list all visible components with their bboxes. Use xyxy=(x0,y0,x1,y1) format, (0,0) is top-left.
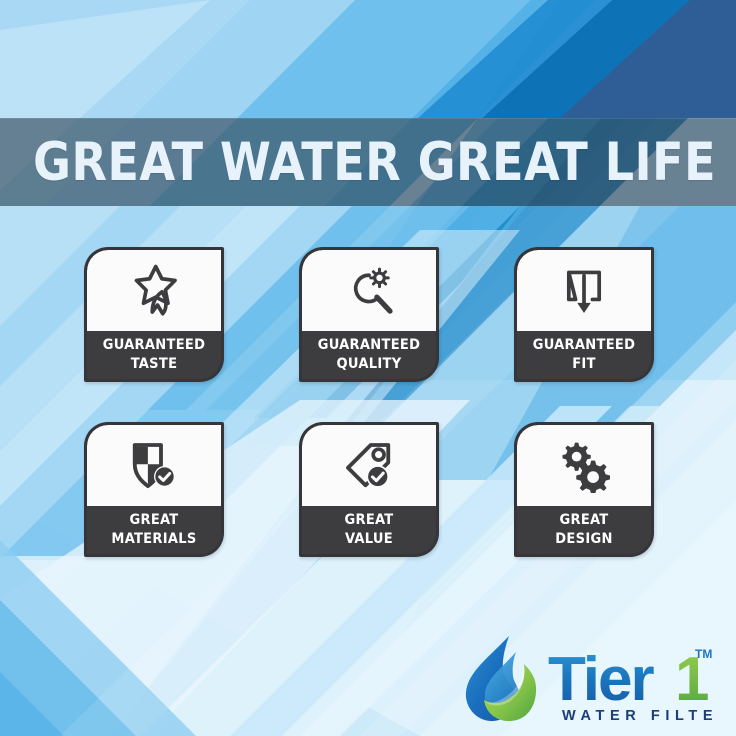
badge-label-line2: MATERIALS xyxy=(111,530,196,549)
magnifier-gear-icon xyxy=(341,263,397,319)
badge-label-area: GUARANTEED QUALITY xyxy=(302,331,436,379)
badge-icon-area xyxy=(517,425,651,506)
badge-icon-area xyxy=(87,425,221,506)
badge-guaranteed-quality[interactable]: GUARANTEED QUALITY xyxy=(299,247,439,382)
badge-label-line1: GREAT xyxy=(129,511,178,530)
badge-label-line1: GREAT xyxy=(559,511,608,530)
badge-label-line1: GUARANTEED xyxy=(318,336,421,355)
badge-icon-area xyxy=(302,250,436,331)
feature-badge-grid: GUARANTEED TASTE xyxy=(84,247,674,557)
badge-icon-area xyxy=(517,250,651,331)
shooting-star-icon xyxy=(126,263,182,319)
badge-label-area: GREAT MATERIALS xyxy=(87,506,221,554)
box-down-arrow-icon xyxy=(557,264,611,318)
badge-icon-area xyxy=(87,250,221,331)
badge-label-line2: DESIGN xyxy=(555,530,612,549)
logo-wordmark: Tier xyxy=(548,645,654,714)
badge-label-line2: FIT xyxy=(572,355,596,374)
badge-label-area: GREAT VALUE xyxy=(302,506,436,554)
badge-great-value[interactable]: GREAT VALUE xyxy=(299,422,439,557)
tier1-logo[interactable]: Tier 1 TM WATER FILTERS xyxy=(452,632,714,726)
badge-label-line2: VALUE xyxy=(345,530,393,549)
price-tag-check-icon xyxy=(341,438,397,494)
badge-guaranteed-fit[interactable]: GUARANTEED FIT xyxy=(514,247,654,382)
badge-label-line1: GUARANTEED xyxy=(103,336,206,355)
water-droplet-leaf-icon xyxy=(466,636,536,721)
badge-label-area: GUARANTEED TASTE xyxy=(87,331,221,379)
badge-label-area: GUARANTEED FIT xyxy=(517,331,651,379)
headline-banner: GREAT WATER GREAT LIFE xyxy=(0,118,736,206)
badge-label-line2: QUALITY xyxy=(337,355,402,374)
badge-label-area: GREAT DESIGN xyxy=(517,506,651,554)
badge-label-line1: GREAT xyxy=(344,511,393,530)
logo-trademark: TM xyxy=(695,647,712,661)
page-title: GREAT WATER GREAT LIFE xyxy=(0,136,716,189)
badge-guaranteed-taste[interactable]: GUARANTEED TASTE xyxy=(84,247,224,382)
badge-great-materials[interactable]: GREAT MATERIALS xyxy=(84,422,224,557)
badge-label-line1: GUARANTEED xyxy=(533,336,636,355)
badge-icon-area xyxy=(302,425,436,506)
badge-great-design[interactable]: GREAT DESIGN xyxy=(514,422,654,557)
two-gears-icon xyxy=(555,439,613,493)
badge-label-line2: TASTE xyxy=(131,355,178,374)
poster-canvas: GREAT WATER GREAT LIFE GUARANTEED TASTE xyxy=(0,0,736,736)
shield-check-icon xyxy=(126,438,182,494)
logo-tagline: WATER FILTERS xyxy=(562,708,714,724)
